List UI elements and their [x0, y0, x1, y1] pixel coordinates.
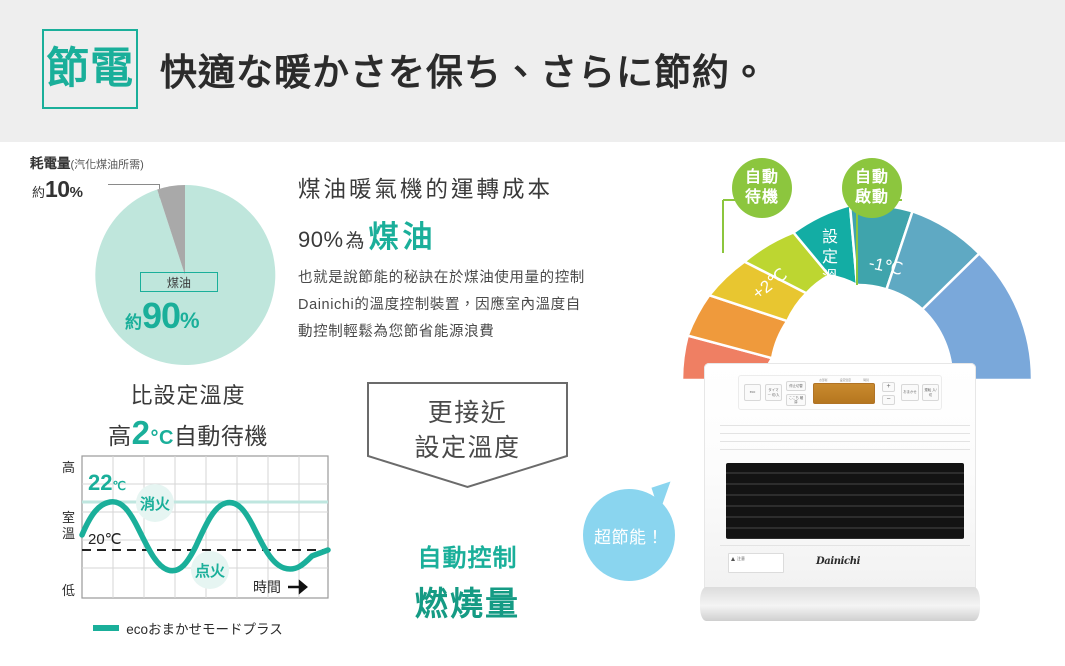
pentagon-badge-text: 更接近 設定溫度	[365, 396, 570, 466]
legend-color-swatch	[93, 625, 119, 631]
copy-body-line-3: 動控制輕鬆為您節省能源浪費	[298, 319, 628, 346]
pentagon-badge: 更接近 設定溫度	[365, 380, 570, 490]
chart-axis-label-room-1: 室	[62, 510, 75, 525]
copy-body: 也就是說節能的秘訣在於煤油使用量的控制 Dainichi的溫度控制裝置，因應室內…	[298, 265, 628, 346]
svg-text:溫: 溫	[822, 268, 838, 286]
chart-axis-label-high: 高	[62, 460, 75, 475]
pentagon-line-2: 設定溫度	[365, 431, 570, 466]
badge-auto-standby-line-2: 待機	[745, 188, 779, 208]
pie-caption-sub: (汽化煤油所需)	[71, 159, 144, 171]
svg-text:度: 度	[822, 288, 838, 306]
chart-time-label: 時間	[253, 579, 281, 595]
badge-auto-start: 自動 啟動	[842, 158, 902, 218]
heater-ridge-1	[720, 425, 970, 426]
copy-block: 煤油暖氣機的運轉成本 90%為煤油 也就是說節能的秘訣在於煤油使用量的控制 Da…	[298, 172, 628, 346]
chart-axis-label-room-2: 溫	[62, 526, 75, 541]
line-chart-title-unit: °C	[150, 427, 173, 449]
line-chart-title-1: 比設定溫度	[38, 378, 338, 410]
copy-headline-1: 煤油暖氣機的運轉成本	[298, 172, 628, 204]
setsuden-badge-label: 節電	[46, 48, 134, 91]
header-inner: 節電 快適な暖かさを保ち、さらに節約。	[42, 29, 768, 109]
pie-electric-number: 10	[45, 176, 70, 202]
power-button[interactable]: 運転 入/切	[922, 384, 939, 401]
temp-down-button[interactable]: −	[882, 395, 895, 405]
badge-auto-start-line-1: 自動	[855, 168, 889, 188]
pie-chart-section: 耗電量(汽化煤油所需) 約10% 煤油 約90%	[30, 152, 300, 367]
pie-kerosene-value: 約90%	[125, 295, 200, 337]
pie-electric-percent: %	[70, 184, 83, 201]
timer-button[interactable]: タイマー 切/入	[765, 384, 782, 401]
svg-text:設: 設	[822, 228, 838, 246]
copy-headline-2: 90%為煤油	[298, 212, 628, 256]
badge-auto-start-line-2: 啟動	[855, 188, 889, 208]
pie-kerosene-label: 煤油	[140, 272, 218, 292]
temperature-fan-diagram: +2℃ 設 定 溫 度 -1℃ 自動 待機 自動 啟動	[650, 150, 1065, 385]
copy-body-line-1: 也就是說節能的秘訣在於煤油使用量的控制	[298, 265, 628, 292]
legend-label: ecoおまかせモードプラス	[126, 618, 283, 638]
page-title: 快適な暖かさを保ち、さらに節約。	[160, 42, 768, 96]
heater-ridge-5	[720, 545, 970, 546]
setsuden-badge: 節電	[42, 29, 138, 109]
pie-electric-about: 約	[32, 185, 45, 200]
lcd-top-labels: お部屋 設定温度 時刻	[813, 378, 875, 382]
chart-tag-off-label: 消火	[140, 495, 170, 513]
auto-control-text: 自動控制 燃燒量	[360, 538, 575, 625]
line-chart-title-value: 2	[132, 414, 151, 451]
page-root: 節電 快適な暖かさを保ち、さらに節約。 耗電量(汽化煤油所需) 約10% 煤油 …	[0, 0, 1065, 666]
pie-kerosene-number: 90	[142, 295, 180, 336]
comfort-heat-button[interactable]: ここち 暖房	[786, 394, 806, 406]
pentagon-line-1: 更接近	[365, 396, 570, 431]
pie-caption-main: 耗電量	[30, 156, 71, 171]
badge-auto-standby: 自動 待機	[732, 158, 792, 218]
temp-up-button[interactable]: +	[882, 382, 895, 392]
line-chart-title-rest: 自動待機	[174, 423, 268, 449]
copy-kerosene: 煤油	[369, 212, 437, 256]
warning-triangle-icon	[731, 557, 735, 561]
center-badge-section: 更接近 設定溫度 自動控制 燃燒量	[360, 380, 575, 625]
auto-control-line-2: 燃燒量	[360, 577, 575, 625]
auto-mode-button[interactable]: おまかせ	[901, 384, 919, 401]
pie-kerosene-percent: %	[180, 308, 200, 333]
heater-ridge-2	[720, 433, 970, 434]
chart-label-20c: 20℃	[88, 531, 122, 548]
heater-grille	[726, 463, 964, 539]
eco-button[interactable]: eco	[744, 384, 761, 401]
badge-auto-standby-line-1: 自動	[745, 168, 779, 188]
chart-tag-on-label: 点火	[195, 563, 225, 580]
warning-label-text: 注意	[737, 556, 745, 562]
warning-label: 注意	[728, 553, 784, 573]
heater-body: お部屋 設定温度 時刻 eco タイマー 切/入 停止切替 ここち 暖房 + −…	[704, 363, 976, 599]
heater-control-panel[interactable]: お部屋 設定温度 時刻 eco タイマー 切/入 停止切替 ここち 暖房 + −…	[738, 375, 942, 410]
copy-body-line-2: Dainichi的溫度控制裝置，因應室內溫度自	[298, 292, 628, 319]
line-chart-title-2: 高2°C自動待機	[38, 414, 338, 452]
line-chart-legend: ecoおまかせモードプラス	[38, 618, 338, 638]
copy-wei: 為	[346, 226, 365, 253]
pie-electric-value: 約10%	[32, 176, 83, 203]
heater-base-plate	[700, 587, 980, 621]
line-chart-section: 比設定溫度 高2°C自動待機	[38, 378, 338, 648]
lcd-display	[813, 383, 875, 404]
heater-ridge-3	[720, 441, 970, 442]
line-chart-svg: 高 室 溫 低 22℃ 20℃ 消火 点火 時間	[38, 450, 338, 615]
lcd-label-clock: 時刻	[863, 378, 869, 382]
line-chart-title-high: 高	[108, 423, 132, 449]
chart-axis-label-low: 低	[62, 583, 75, 598]
page-header: 節電 快適な暖かさを保ち、さらに節約。	[0, 0, 1065, 142]
speech-bubble: 超節能！	[583, 489, 675, 581]
lcd-label-set-temp: 設定温度	[840, 378, 851, 382]
warning-label-top: 注意	[731, 556, 781, 562]
heater-ridge-4	[720, 449, 970, 450]
speech-bubble-text: 超節能！	[594, 523, 664, 548]
lcd-label-room: お部屋	[819, 378, 827, 382]
copy-percent: 90%	[298, 227, 344, 253]
heater-product-image: お部屋 設定温度 時刻 eco タイマー 切/入 停止切替 ここち 暖房 + −…	[700, 363, 980, 621]
pie-caption: 耗電量(汽化煤油所需)	[30, 152, 144, 172]
svg-text:定: 定	[822, 248, 838, 266]
auto-control-line-1: 自動控制	[360, 538, 575, 573]
brand-logo: Dainichi	[816, 556, 860, 567]
pie-kerosene-about: 約	[125, 313, 142, 332]
stop-switch-button[interactable]: 停止切替	[786, 381, 806, 391]
